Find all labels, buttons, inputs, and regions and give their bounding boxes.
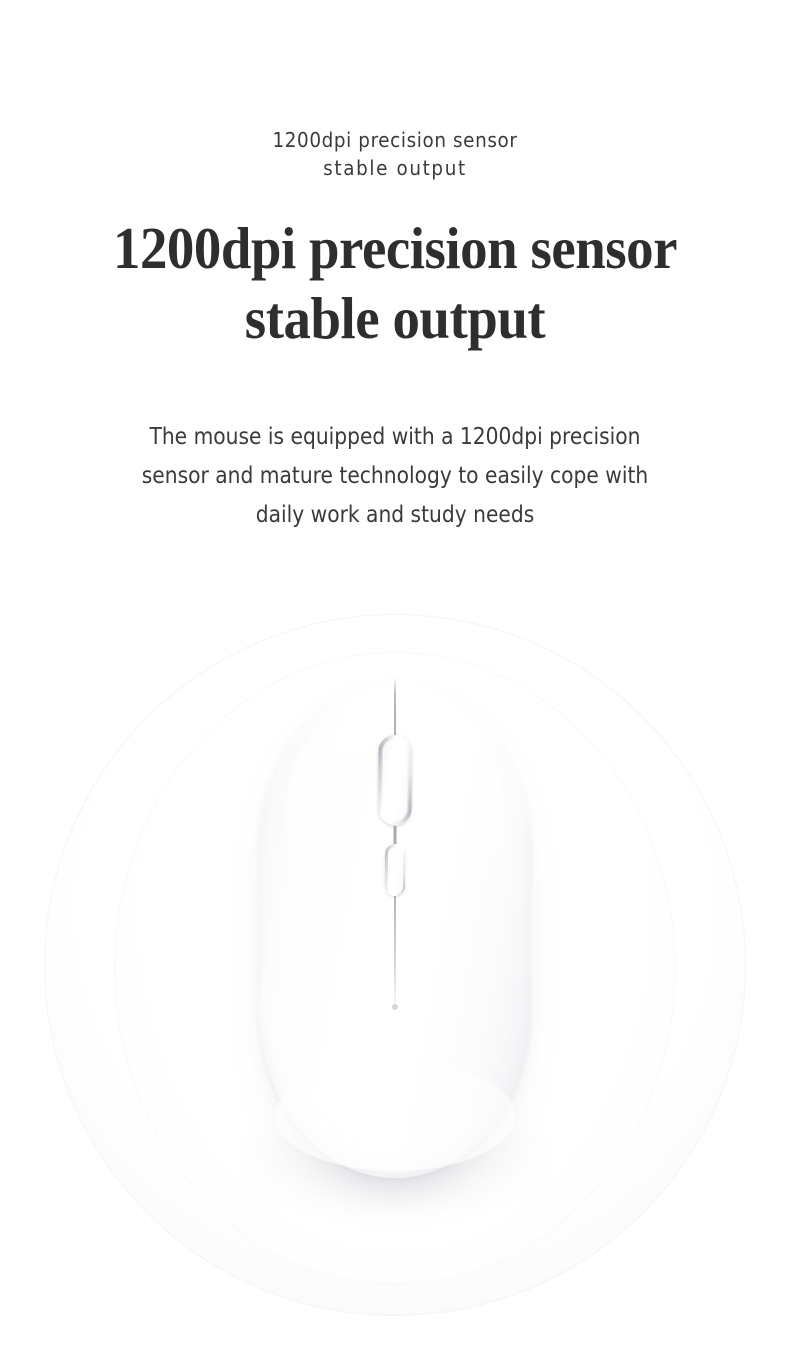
page-title-line-1: 1200dpi precision sensor	[28, 213, 763, 283]
page-title: 1200dpi precision sensor stable output	[28, 213, 763, 353]
decorative-heading: 1200dpi precision sensor stable output	[0, 126, 790, 182]
scroll-wheel-icon	[379, 735, 412, 825]
dpi-button-icon	[385, 844, 405, 896]
decorative-heading-line-2: stable output	[0, 154, 790, 182]
decorative-heading-line-1: 1200dpi precision sensor	[0, 126, 790, 154]
product-detail-page: 1200dpi precision sensor stable output 1…	[0, 0, 790, 1350]
product-image	[0, 575, 790, 1350]
wireless-mouse-body	[259, 678, 531, 1178]
product-description-line-3: daily work and study needs	[81, 496, 709, 535]
product-description: The mouse is equipped with a 1200dpi pre…	[81, 418, 709, 535]
scroll-wheel-face	[383, 739, 408, 821]
product-description-line-2: sensor and mature technology to easily c…	[81, 457, 709, 496]
dpi-button-face	[388, 847, 403, 894]
mouse-seam-end-dot	[392, 1004, 398, 1010]
product-description-line-1: The mouse is equipped with a 1200dpi pre…	[81, 418, 709, 457]
mouse-button-seam-top	[394, 678, 396, 740]
page-title-line-2: stable output	[28, 283, 763, 353]
mouse-button-seam-bottom	[394, 896, 396, 1006]
